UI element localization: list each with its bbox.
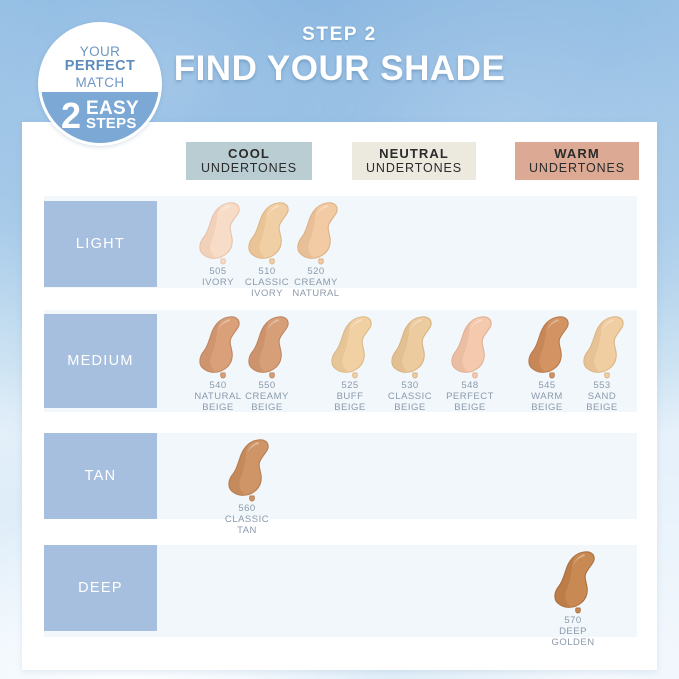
badge-line-match: MATCH [76, 75, 125, 91]
column-header-warm: WARM UNDERTONES [515, 142, 639, 180]
swatch-blob-icon [543, 548, 603, 614]
column-header-neutral: NEUTRAL UNDERTONES [352, 142, 476, 180]
row-label-text-deep: DEEP [78, 580, 123, 596]
column-title-cool: COOL [228, 146, 270, 161]
badge-line-perfect: PERFECT [65, 59, 135, 75]
row-label-text-medium: MEDIUM [67, 353, 134, 369]
swatch-blob-icon [380, 313, 440, 379]
swatch-name: CREAMY NATURAL [279, 277, 353, 299]
row-label-text-light: LIGHT [76, 236, 125, 252]
swatch-570[interactable]: 570DEEP GOLDEN [536, 548, 610, 648]
column-title-warm: WARM [554, 146, 600, 161]
swatch-code: 553 [565, 380, 639, 391]
row-label-tan: TAN [44, 433, 157, 519]
swatch-code: 570 [536, 615, 610, 626]
swatch-blob-icon [320, 313, 380, 379]
column-subtitle-neutral: UNDERTONES [366, 161, 462, 176]
swatch-blob-icon [237, 313, 297, 379]
badge-steps-label: STEPS [86, 116, 139, 131]
swatch-548[interactable]: 548PERFECT BEIGE [433, 313, 507, 413]
column-subtitle-warm: UNDERTONES [529, 161, 625, 176]
swatch-name: CREAMY BEIGE [230, 391, 304, 413]
row-label-text-tan: TAN [85, 468, 117, 484]
badge-line-your: YOUR [80, 44, 121, 60]
swatch-code: 550 [230, 380, 304, 391]
swatch-blob-icon [440, 313, 500, 379]
swatch-name: SAND BEIGE [565, 391, 639, 413]
column-title-neutral: NEUTRAL [379, 146, 449, 161]
swatch-code: 560 [210, 503, 284, 514]
swatch-blob-icon [572, 313, 632, 379]
swatch-550[interactable]: 550CREAMY BEIGE [230, 313, 304, 413]
badge-easy-label: EASY [86, 101, 139, 116]
badge-step-number: 2 [61, 99, 81, 133]
column-subtitle-cool: UNDERTONES [201, 161, 297, 176]
swatch-560[interactable]: 560CLASSIC TAN [210, 436, 284, 536]
swatch-name: PERFECT BEIGE [433, 391, 507, 413]
swatch-name: CLASSIC TAN [210, 514, 284, 536]
swatch-code: 548 [433, 380, 507, 391]
swatch-520[interactable]: 520CREAMY NATURAL [279, 199, 353, 299]
swatch-553[interactable]: 553SAND BEIGE [565, 313, 639, 413]
swatch-blob-icon [217, 436, 277, 502]
badge-step-words: EASY STEPS [86, 101, 139, 131]
column-header-cool: COOL UNDERTONES [186, 142, 312, 180]
row-label-deep: DEEP [44, 545, 157, 631]
swatch-name: DEEP GOLDEN [536, 626, 610, 648]
perfect-match-badge: YOUR PERFECT MATCH 2 EASY STEPS [38, 22, 162, 146]
badge-inner: YOUR PERFECT MATCH 2 EASY STEPS [41, 25, 159, 143]
swatch-blob-icon [286, 199, 346, 265]
row-label-medium: MEDIUM [44, 314, 157, 408]
row-label-light: LIGHT [44, 201, 157, 287]
swatch-code: 520 [279, 266, 353, 277]
